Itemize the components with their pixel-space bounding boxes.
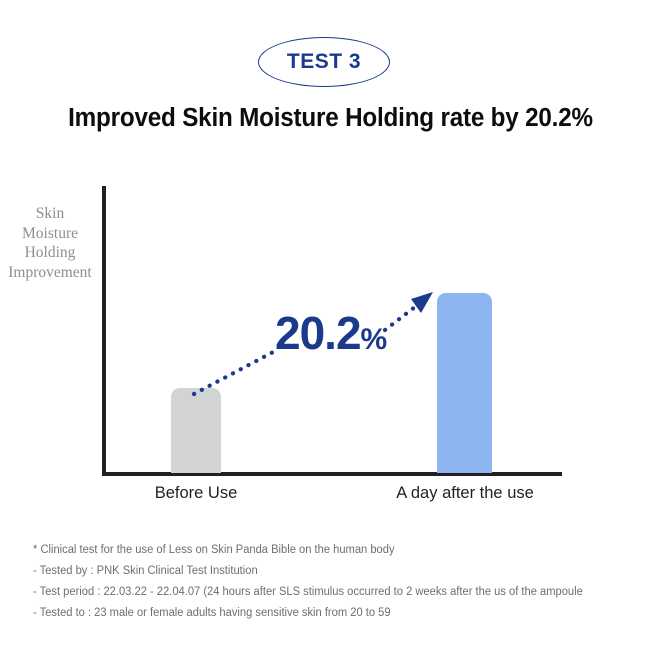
delta-unit: %	[361, 323, 388, 356]
y-axis-label-line-4: Improvement	[0, 263, 100, 283]
bar-before-use	[171, 388, 221, 473]
delta-value: 20.2	[275, 307, 361, 359]
y-axis-line	[102, 186, 106, 476]
footnote-line: - Tested to : 23 male or female adults h…	[33, 603, 630, 624]
y-axis-label-line-3: Holding	[0, 243, 100, 263]
footnote-line: - Tested by : PNK Skin Clinical Test Ins…	[33, 561, 630, 582]
x-tick-label-before-use: Before Use	[126, 484, 266, 503]
bar-a-day-after-the-use	[437, 293, 492, 473]
footnote-line: * Clinical test for the use of Less on S…	[33, 540, 630, 561]
y-axis-label: Skin Moisture Holding Improvement	[0, 204, 100, 282]
x-tick-label-after-use: A day after the use	[375, 484, 555, 503]
footnote-line: - Test period : 22.03.22 - 22.04.07 (24 …	[33, 582, 630, 603]
y-axis-label-line-1: Skin	[0, 204, 100, 224]
footnotes: * Clinical test for the use of Less on S…	[33, 540, 648, 624]
y-axis-label-line-2: Moisture	[0, 224, 100, 244]
delta-callout: 20.2%	[275, 306, 387, 360]
